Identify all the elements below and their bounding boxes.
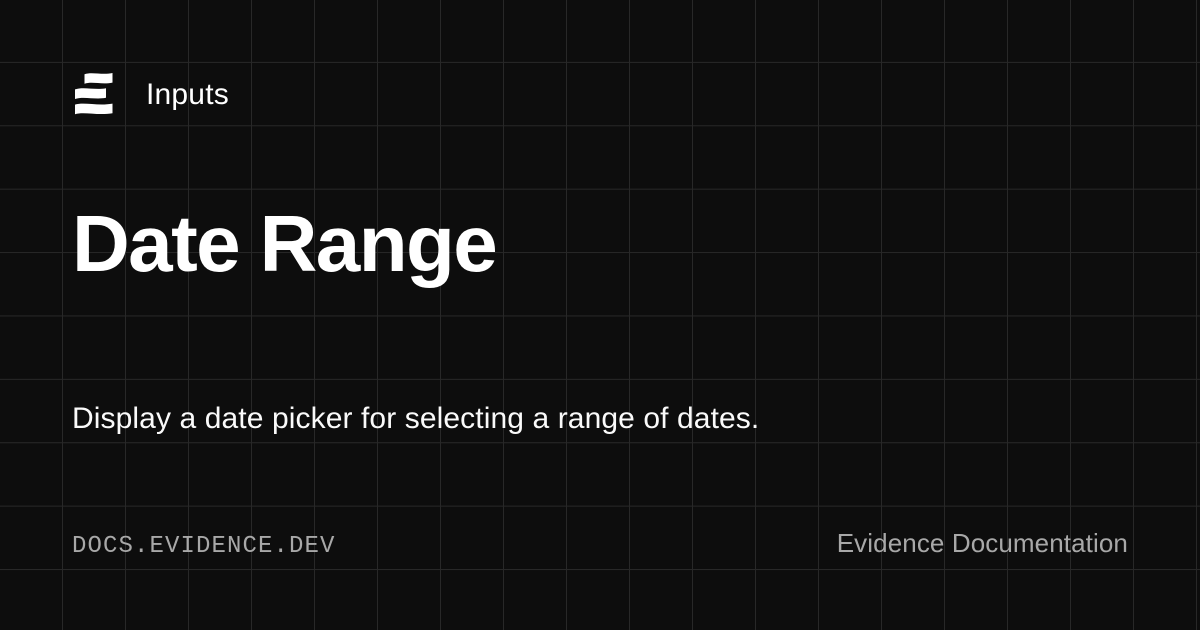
- footer-domain: DOCS.EVIDENCE.DEV: [72, 535, 336, 559]
- page-title: Date Range: [72, 204, 496, 284]
- card-content: Inputs Date Range Display a date picker …: [0, 0, 1200, 630]
- evidence-logo-icon: [72, 72, 116, 118]
- footer: DOCS.EVIDENCE.DEV Evidence Documentation: [72, 530, 1128, 562]
- header: Inputs: [72, 70, 229, 120]
- og-card: Inputs Date Range Display a date picker …: [0, 0, 1200, 630]
- footer-brand: Evidence Documentation: [837, 530, 1128, 556]
- section-label: Inputs: [146, 80, 229, 110]
- page-description: Display a date picker for selecting a ra…: [72, 404, 759, 434]
